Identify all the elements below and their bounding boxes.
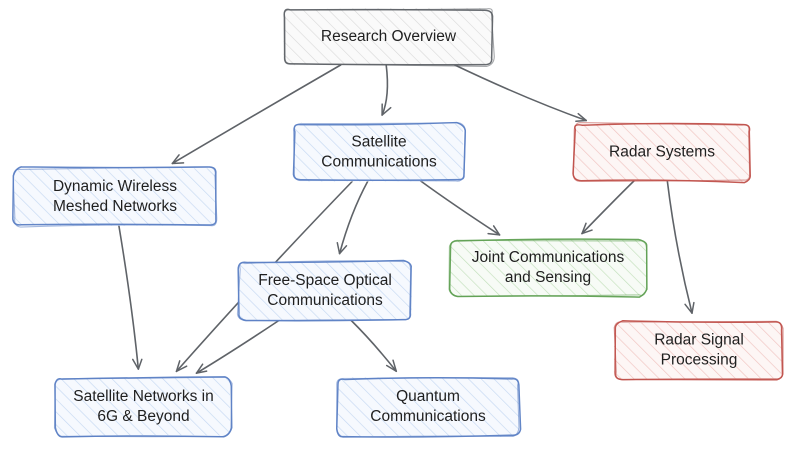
- diagram-canvas: Research OverviewDynamic WirelessMeshed …: [0, 0, 800, 449]
- node-fill: [449, 240, 647, 296]
- edge-dynamic_wireless-to-satellite_networks_6g: [119, 226, 142, 369]
- node-free_space_optical[interactable]: Free-Space OpticalCommunications: [237, 260, 411, 320]
- edge-line: [421, 181, 500, 235]
- edge-line: [340, 181, 368, 254]
- node-fill: [614, 322, 783, 381]
- edge-line: [351, 320, 397, 371]
- node-fill: [56, 377, 231, 436]
- node-fill: [337, 377, 520, 437]
- node-fill: [239, 262, 412, 321]
- edge-line: [455, 65, 586, 120]
- edge-line: [196, 320, 279, 373]
- node-radar_signal_processing[interactable]: Radar SignalProcessing: [614, 321, 783, 380]
- node-fill: [13, 168, 216, 226]
- flowchart-svg: Research OverviewDynamic WirelessMeshed …: [0, 0, 800, 449]
- node-quantum_comms[interactable]: QuantumCommunications: [337, 377, 521, 437]
- node-fill: [293, 124, 463, 182]
- edge-free_space_optical-to-quantum_comms: [351, 320, 397, 371]
- node-joint_comms_sensing[interactable]: Joint Communicationsand Sensing: [449, 239, 647, 297]
- edge-line: [582, 181, 634, 234]
- edge-root-to-radar_systems: [455, 65, 586, 121]
- edge-radar_systems-to-radar_signal_processing: [667, 181, 694, 313]
- node-satellite_comms[interactable]: SatelliteCommunications: [293, 123, 465, 182]
- edge-line: [119, 226, 138, 369]
- edge-radar_systems-to-joint_comms_sensing: [582, 181, 634, 234]
- node-fill: [283, 8, 493, 66]
- nodes-layer: Research OverviewDynamic WirelessMeshed …: [13, 8, 784, 437]
- edge-line: [667, 181, 692, 313]
- edge-root-to-satellite_comms: [382, 65, 391, 115]
- arrow-head-icon: [172, 155, 183, 164]
- node-radar_systems[interactable]: Radar Systems: [573, 123, 750, 183]
- edge-free_space_optical-to-satellite_networks_6g: [196, 320, 279, 373]
- node-satellite_networks_6g[interactable]: Satellite Networks in6G & Beyond: [55, 377, 233, 437]
- node-root[interactable]: Research Overview: [283, 8, 494, 67]
- edge-satellite_comms-to-joint_comms_sensing: [421, 181, 500, 235]
- node-dynamic_wireless[interactable]: Dynamic WirelessMeshed Networks: [13, 167, 217, 227]
- node-fill: [573, 123, 750, 182]
